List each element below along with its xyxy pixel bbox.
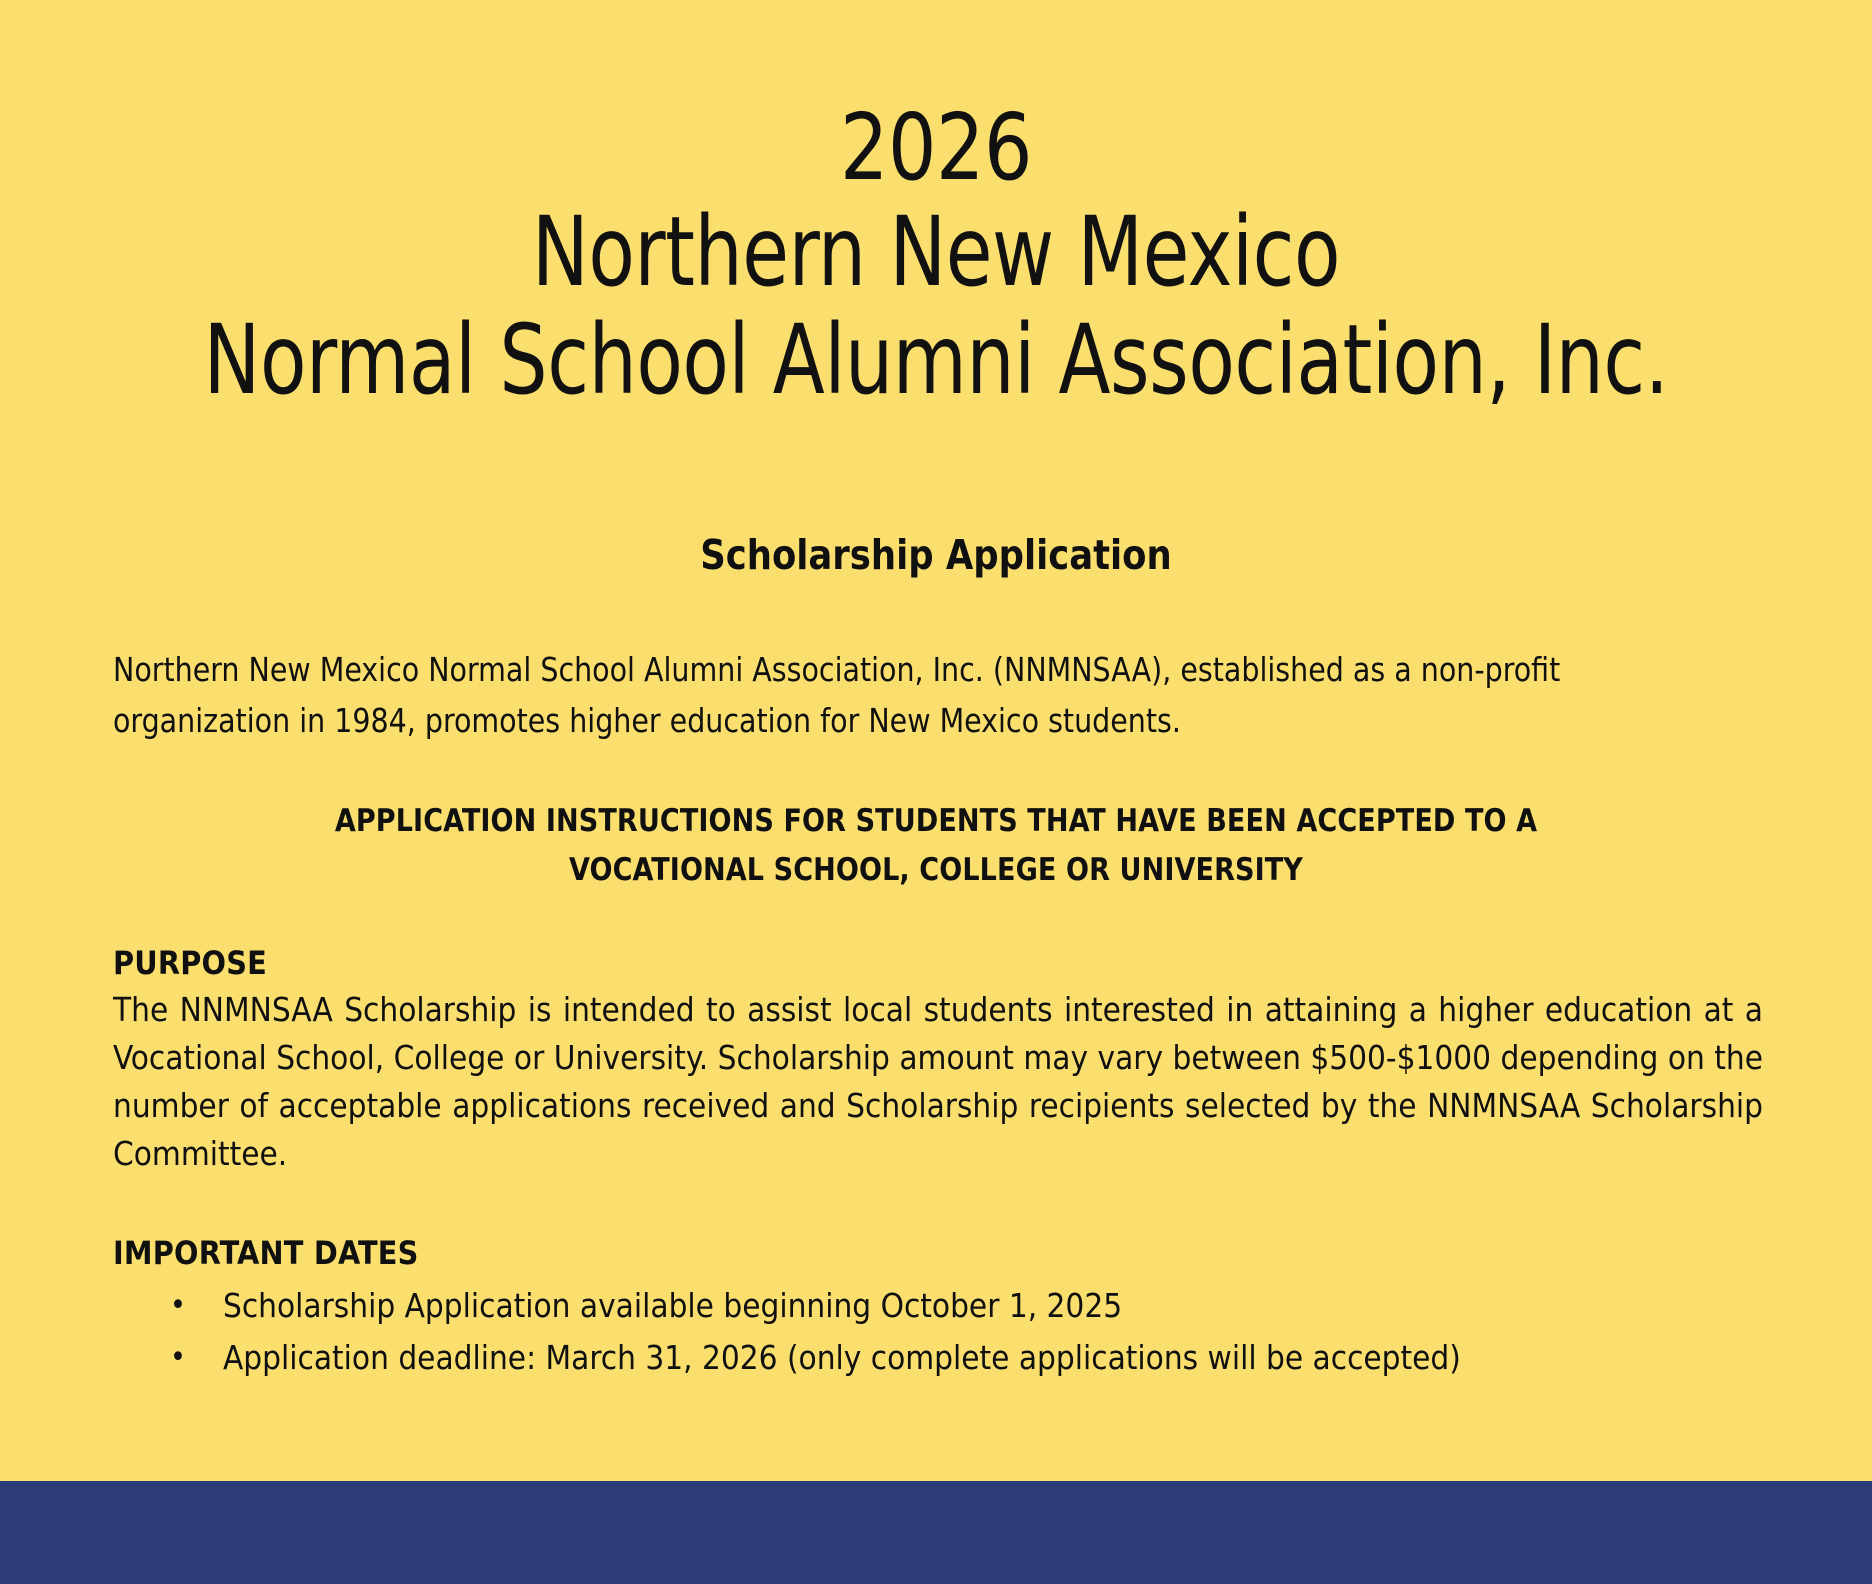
important-dates-heading: IMPORTANT DATES [113, 1232, 1763, 1274]
important-dates-list: • Scholarship Application available begi… [113, 1280, 1763, 1384]
list-item-label: Application deadline: March 31, 2026 (on… [223, 1338, 1461, 1377]
document-subtitle: Scholarship Application [37, 531, 1834, 580]
list-item-label: Scholarship Application available beginn… [223, 1286, 1122, 1325]
purpose-section: PURPOSE The NNMNSAA Scholarship is inten… [113, 942, 1763, 1226]
intro-paragraph: Northern New Mexico Normal School Alumni… [113, 644, 1759, 746]
instructions-heading: APPLICATION INSTRUCTIONS FOR STUDENTS TH… [180, 797, 1692, 895]
bullet-icon: • [170, 1280, 186, 1332]
masthead-year: 2026 [75, 96, 1797, 199]
footer-color-band [0, 1481, 1872, 1584]
masthead-org-line-1: Northern New Mexico [112, 199, 1759, 307]
purpose-paragraph: The NNMNSAA Scholarship is intended to a… [113, 986, 1763, 1226]
masthead-org-line-2: Normal School Alumni Association, Inc. [112, 307, 1759, 415]
bullet-icon: • [170, 1332, 186, 1384]
instructions-heading-line-1: APPLICATION INSTRUCTIONS FOR STUDENTS TH… [203, 797, 1670, 846]
important-dates-section: IMPORTANT DATES • Scholarship Applicatio… [113, 1232, 1763, 1384]
masthead: 2026 Northern New Mexico Normal School A… [0, 96, 1872, 414]
list-item: • Application deadline: March 31, 2026 (… [113, 1332, 1763, 1384]
document-page: 2026 Northern New Mexico Normal School A… [0, 0, 1872, 1584]
list-item: • Scholarship Application available begi… [113, 1280, 1763, 1332]
intro-paragraph-text: Northern New Mexico Normal School Alumni… [113, 644, 1693, 746]
purpose-heading: PURPOSE [113, 942, 1763, 984]
instructions-heading-line-2: VOCATIONAL SCHOOL, COLLEGE OR UNIVERSITY [203, 846, 1670, 895]
